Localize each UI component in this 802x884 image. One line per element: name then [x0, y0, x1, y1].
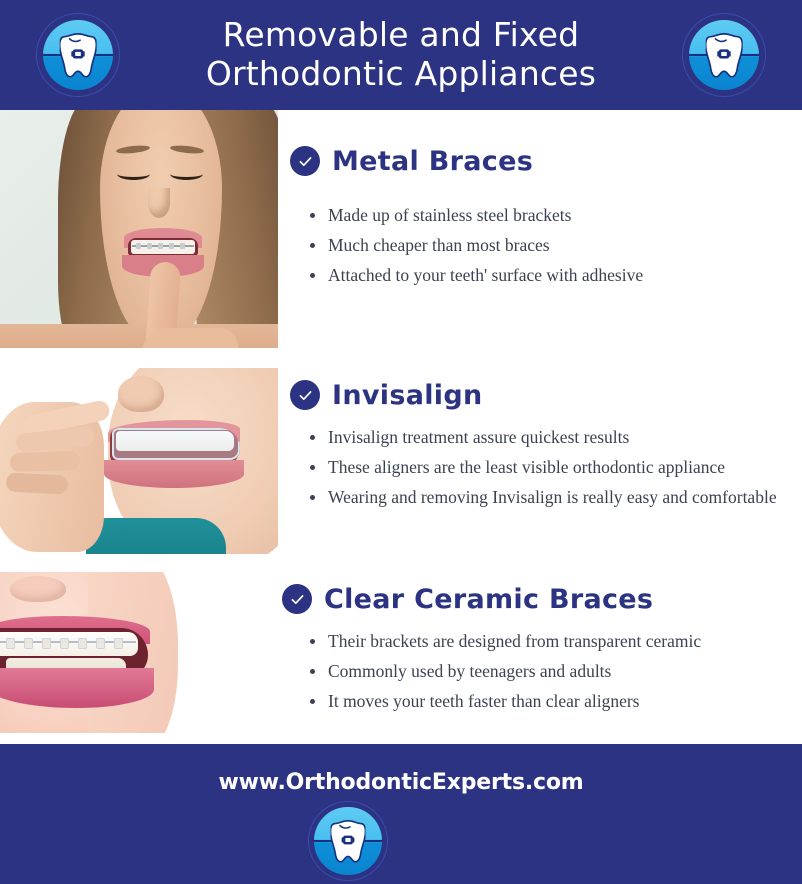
section-heading: Metal Braces — [332, 148, 533, 175]
list-item: Their brackets are designed from transpa… — [304, 626, 701, 656]
logo-disc — [689, 20, 760, 91]
section-heading: Invisalign — [332, 382, 482, 409]
header-banner: Removable and Fixed Orthodontic Applianc… — [0, 0, 802, 110]
section-bullet-list: Invisalign treatment assure quickest res… — [304, 422, 777, 512]
tooth-braces-logo-icon — [36, 13, 120, 97]
tooth-glyph-icon — [60, 32, 97, 77]
footer-banner: www.OrthodonticExperts.com — [0, 744, 802, 884]
section-body-metal-braces: Metal Braces Made up of stainless steel … — [290, 146, 643, 290]
tooth-glyph-icon — [331, 819, 366, 862]
list-item: Much cheaper than most braces — [304, 230, 643, 260]
list-item: Wearing and removing Invisalign is reall… — [304, 482, 777, 512]
list-item: It moves your teeth faster than clear al… — [304, 686, 701, 716]
list-item: Made up of stainless steel brackets — [304, 200, 643, 230]
section-invisalign: Invisalign Invisalign treatment assure q… — [0, 368, 802, 556]
website-url[interactable]: www.OrthodonticExperts.com — [0, 770, 802, 795]
list-item: These aligners are the least visible ort… — [304, 452, 777, 482]
list-item: Attached to your teeth' surface with adh… — [304, 260, 643, 290]
section-clear-ceramic-braces: Clear Ceramic Braces Their brackets are … — [0, 572, 802, 734]
tooth-glyph-icon — [706, 32, 743, 77]
section-body-invisalign: Invisalign Invisalign treatment assure q… — [290, 380, 777, 512]
section-bullet-list: Made up of stainless steel brackets Much… — [304, 200, 643, 290]
section-heading-row: Clear Ceramic Braces — [282, 584, 701, 614]
section-heading: Clear Ceramic Braces — [324, 586, 653, 613]
section-photo-metal-braces — [0, 110, 278, 348]
page-title: Removable and Fixed Orthodontic Applianc… — [166, 16, 636, 94]
list-item: Invisalign treatment assure quickest res… — [304, 422, 777, 452]
logo-disc — [43, 20, 114, 91]
check-circle-icon — [282, 584, 312, 614]
infographic-page: Removable and Fixed Orthodontic Applianc… — [0, 0, 802, 884]
tooth-braces-logo-icon — [308, 801, 388, 881]
list-item: Commonly used by teenagers and adults — [304, 656, 701, 686]
section-photo-invisalign — [0, 368, 278, 554]
section-metal-braces: Metal Braces Made up of stainless steel … — [0, 110, 802, 350]
section-bullet-list: Their brackets are designed from transpa… — [304, 626, 701, 716]
logo-disc — [314, 807, 381, 874]
section-photo-clear-ceramic-braces — [0, 572, 278, 733]
section-heading-row: Metal Braces — [290, 146, 643, 176]
section-body-clear-ceramic-braces: Clear Ceramic Braces Their brackets are … — [282, 584, 701, 716]
section-heading-row: Invisalign — [290, 380, 777, 410]
check-circle-icon — [290, 380, 320, 410]
check-circle-icon — [290, 146, 320, 176]
tooth-braces-logo-icon — [682, 13, 766, 97]
